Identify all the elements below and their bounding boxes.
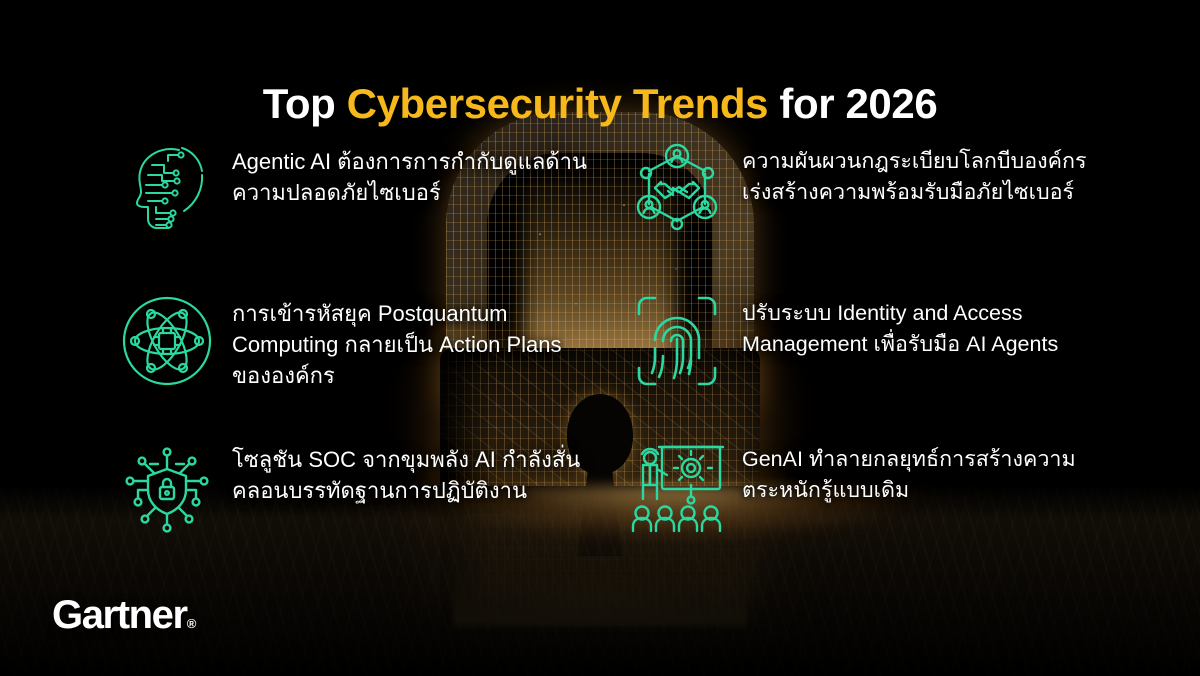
trend-item-agentic-ai: Agentic AI ต้องการการกำกับดูแลด้านความปล… xyxy=(118,140,588,238)
trend-text: GenAI ทำลายกลยุทธ์การสร้างความตระหนักรู้… xyxy=(742,438,1098,505)
trend-item-regulatory-volatility: ความผันผวนกฎระเบียบโลกบีบองค์กรเร่งสร้าง… xyxy=(628,140,1098,238)
trend-text: ความผันผวนกฎระเบียบโลกบีบองค์กรเร่งสร้าง… xyxy=(742,140,1098,207)
padlock-body-glow xyxy=(453,564,747,626)
presentation-training-icon xyxy=(628,438,726,536)
trend-text: ปรับระบบ Identity and Access Management … xyxy=(742,292,1098,359)
head-circuit-icon xyxy=(118,140,216,238)
gartner-logo: Gartner® xyxy=(52,593,196,638)
trend-item-postquantum: การเข้ารหัสยุค Postquantum Computing กลา… xyxy=(118,292,588,392)
logo-wordmark: Gartner xyxy=(52,593,187,637)
trends-grid: Agentic AI ต้องการการกำกับดูแลด้านความปล… xyxy=(0,126,1200,566)
title-part-2: for 2026 xyxy=(768,80,937,127)
registered-trademark-symbol: ® xyxy=(187,616,197,631)
handshake-network-icon xyxy=(628,140,726,238)
title-part-1: Top xyxy=(263,80,347,127)
cybersecurity-trends-infographic: Top Cybersecurity Trends for 2026 xyxy=(0,0,1200,676)
trend-item-genai-awareness: GenAI ทำลายกลยุทธ์การสร้างความตระหนักรู้… xyxy=(628,438,1098,536)
trend-item-identity-access: ปรับระบบ Identity and Access Management … xyxy=(628,292,1098,390)
atom-circle-icon xyxy=(118,292,216,390)
trend-text: Agentic AI ต้องการการกำกับดูแลด้านความปล… xyxy=(232,140,588,208)
trend-text: การเข้ารหัสยุค Postquantum Computing กลา… xyxy=(232,292,588,392)
fingerprint-scanner-icon xyxy=(628,292,726,390)
title-highlight: Cybersecurity Trends xyxy=(347,80,769,127)
trend-text: โซลูชัน SOC จากขุมพลัง AI กำลังสั่นคลอนบ… xyxy=(232,438,588,506)
page-title: Top Cybersecurity Trends for 2026 xyxy=(0,80,1200,128)
shield-lock-circuit-icon xyxy=(118,438,216,536)
trend-item-ai-soc: โซลูชัน SOC จากขุมพลัง AI กำลังสั่นคลอนบ… xyxy=(118,438,588,536)
